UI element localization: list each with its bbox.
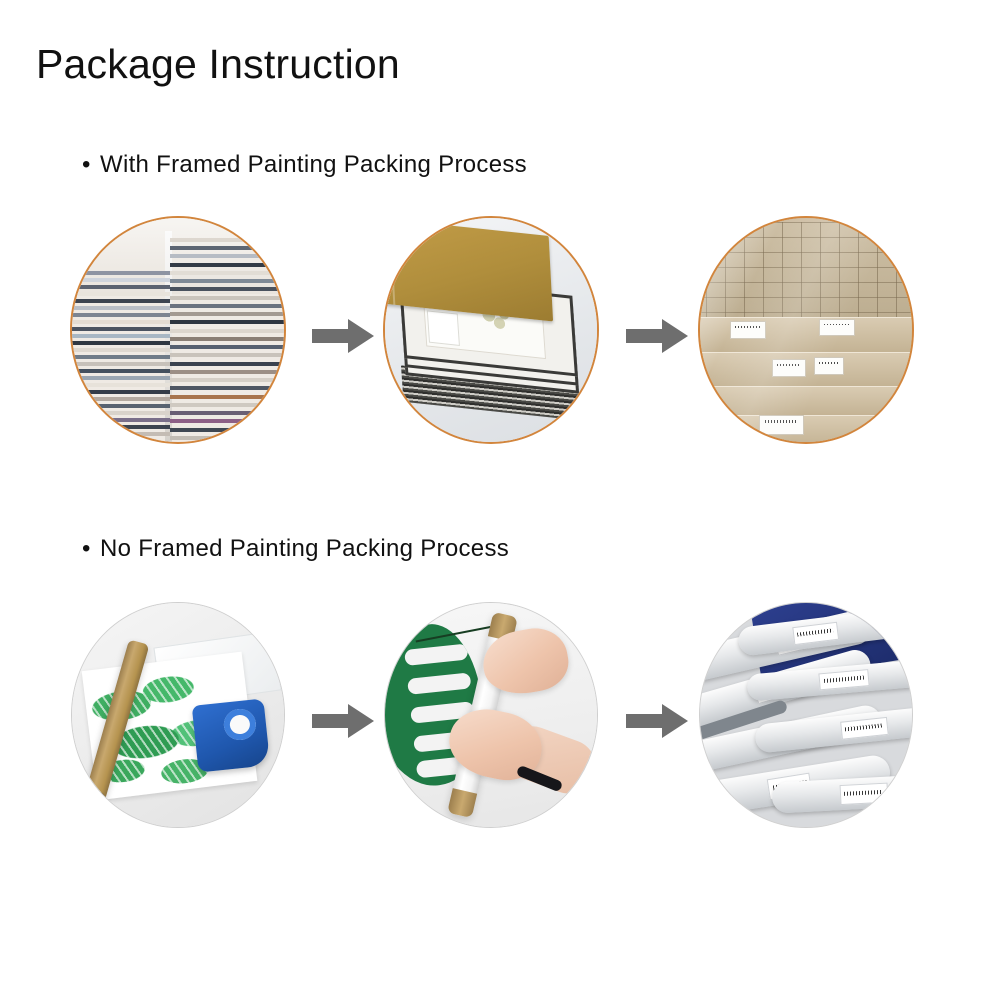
packed-tubes-pile-photo <box>700 603 912 827</box>
section-heading-framed: •With Framed Painting Packing Process <box>82 150 527 180</box>
rolled-canvas-kit-photo <box>72 603 284 827</box>
framed-step-2 <box>385 210 603 450</box>
noframe-step-2 <box>385 595 603 835</box>
noframe-step-1 <box>72 595 290 835</box>
framed-step-3 <box>700 210 918 450</box>
arrow-noframe-2 <box>626 703 688 739</box>
section-heading-framed-label: With Framed Painting Packing Process <box>100 151 527 178</box>
arrow-framed-2 <box>626 318 688 354</box>
framed-painting-in-carton-photo <box>385 218 597 442</box>
stacked-cartons-warehouse-photo <box>700 218 912 442</box>
noframe-step-3 <box>700 595 918 835</box>
section-heading-noframe-label: No Framed Painting Packing Process <box>100 535 509 562</box>
bullet-icon: • <box>82 534 100 564</box>
page-title: Package Instruction <box>36 40 400 88</box>
arrow-noframe-1 <box>312 703 374 739</box>
arrow-framed-1 <box>312 318 374 354</box>
process-row-framed <box>0 210 1000 450</box>
section-heading-noframe: •No Framed Painting Packing Process <box>82 534 509 564</box>
framed-step-1 <box>72 210 290 450</box>
hands-rolling-canvas-photo <box>385 603 597 827</box>
process-row-noframe <box>0 595 1000 835</box>
bullet-icon: • <box>82 150 100 180</box>
stacked-framed-paintings-photo <box>72 218 284 442</box>
